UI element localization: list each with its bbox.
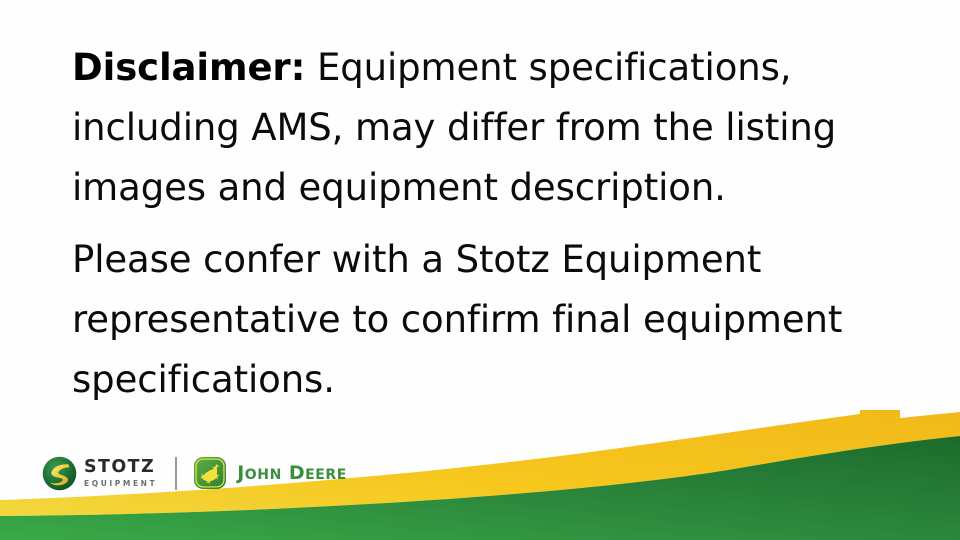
confer-body-text: Please confer with a Stotz Equipment rep… [72, 238, 842, 401]
disclaimer-paragraph: Disclaimer: Equipment specifications, in… [72, 38, 902, 218]
jd-word2-cap: D [289, 462, 305, 484]
stotz-swoosh-icon [42, 456, 77, 491]
confer-paragraph: Please confer with a Stotz Equipment rep… [72, 230, 902, 410]
slide-body-copy: Disclaimer: Equipment specifications, in… [72, 38, 902, 410]
footer-logo-bar: STOTZ EQUIPMENT JOHN DE [42, 452, 347, 494]
stotz-subtitle-text: EQUIPMENT [84, 480, 157, 488]
stotz-wordmark: STOTZ EQUIPMENT [84, 459, 157, 487]
john-deere-logo: JOHN DEERE [193, 456, 347, 490]
jd-word2-rest: EERE [305, 467, 347, 483]
disclaimer-slide: Disclaimer: Equipment specifications, in… [0, 0, 960, 540]
john-deere-wordmark: JOHN DEERE [237, 464, 347, 483]
jd-word1-rest: OHN [245, 467, 282, 483]
john-deere-leaping-deer-icon [193, 456, 227, 490]
disclaimer-lead-label: Disclaimer: [72, 46, 305, 89]
stotz-equipment-logo: STOTZ EQUIPMENT [42, 456, 157, 491]
logo-divider [175, 457, 177, 490]
jd-word1-cap: J [237, 462, 244, 484]
stotz-name-text: STOTZ [84, 459, 157, 477]
